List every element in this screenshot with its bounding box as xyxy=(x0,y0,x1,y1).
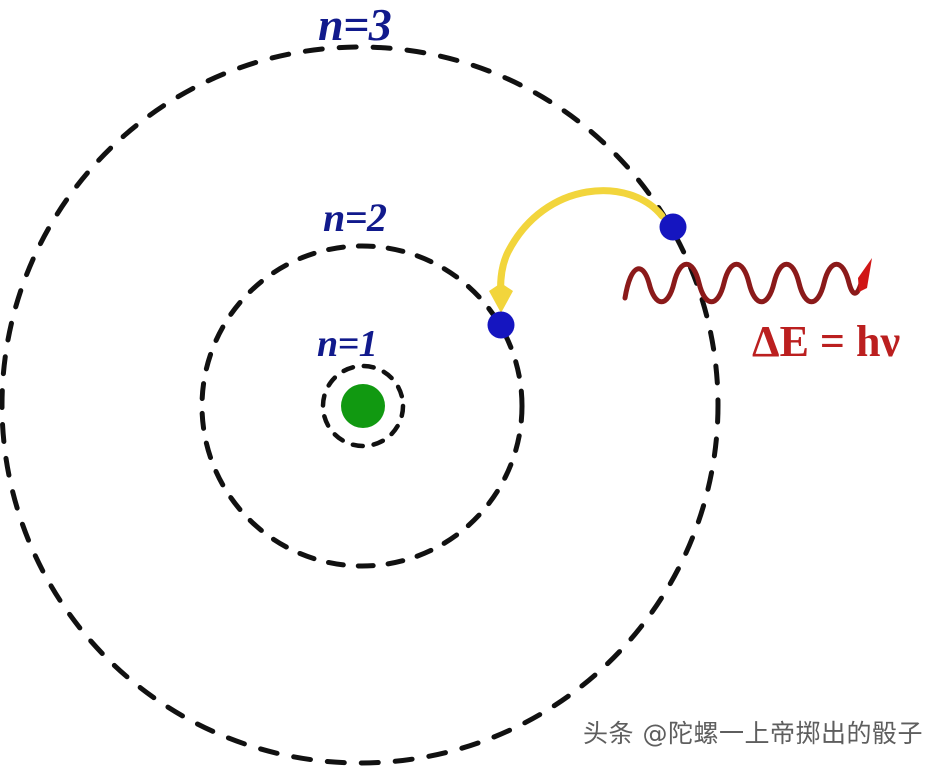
shell-label-n1: n=1 xyxy=(317,325,377,363)
energy-formula-label: ΔE = hν xyxy=(752,318,900,366)
photon-wave xyxy=(625,264,862,302)
bohr-model-svg xyxy=(0,0,928,768)
electron-on-shell-3 xyxy=(660,214,687,241)
electron-on-shell-2 xyxy=(488,312,515,339)
diagram-canvas: n=3 n=2 n=1 ΔE = hν 头条 @陀螺一上帝掷出的骰子 xyxy=(0,0,928,768)
shell-label-n2: n=2 xyxy=(323,198,387,238)
shell-label-n3: n=3 xyxy=(318,2,391,48)
watermark-text: 头条 @陀螺一上帝掷出的骰子 xyxy=(583,714,923,750)
transition-arc xyxy=(501,191,662,300)
transition-arrowhead xyxy=(489,283,513,313)
nucleus xyxy=(341,384,385,428)
photon-arrowhead xyxy=(858,258,872,292)
